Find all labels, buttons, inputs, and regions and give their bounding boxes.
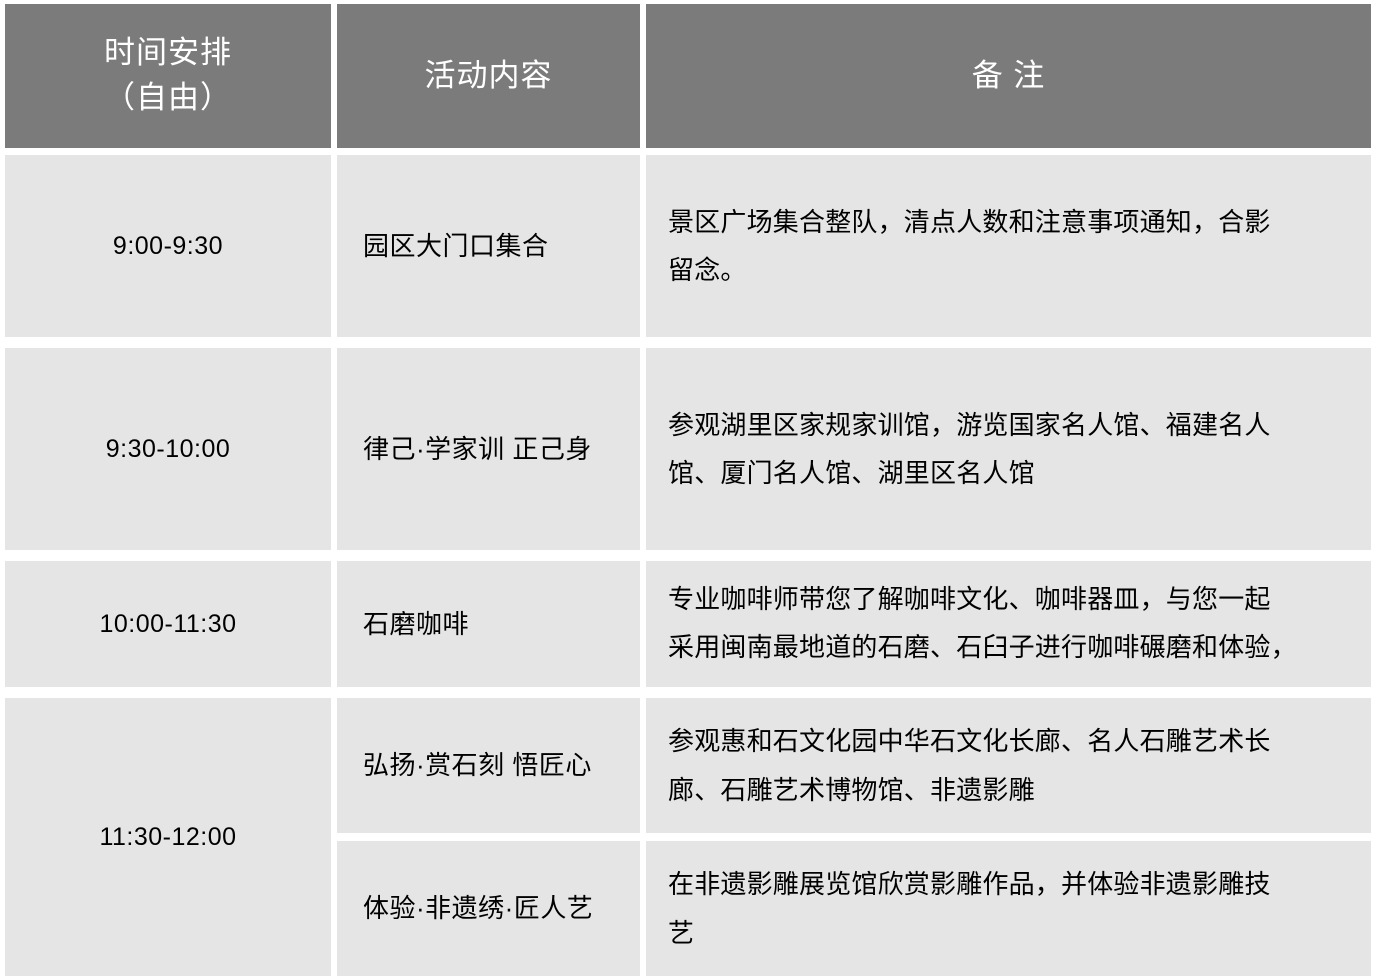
cell-time: 9:30-10:00 bbox=[5, 348, 331, 550]
table-row-merged: 11:30-12:00 弘扬·赏石刻 悟匠心 参观惠和石文化园中华石文化长廊、名… bbox=[5, 698, 1371, 976]
remark-line: 参观惠和石文化园中华石文化长廊、名人石雕艺术长 bbox=[668, 717, 1271, 765]
header-time-line2: （自由） bbox=[104, 76, 232, 121]
cell-time-merged: 11:30-12:00 bbox=[5, 698, 331, 976]
table-row: 9:00-9:30 园区大门口集合 景区广场集合整队，清点人数和注意事项通知，合… bbox=[5, 155, 1371, 337]
remark-line: 艺 bbox=[668, 909, 1271, 957]
table-body: 9:00-9:30 园区大门口集合 景区广场集合整队，清点人数和注意事项通知，合… bbox=[5, 155, 1371, 976]
cell-remark: 参观惠和石文化园中华石文化长廊、名人石雕艺术长 廊、石雕艺术博物馆、非遗影雕 bbox=[646, 698, 1371, 833]
cell-activity: 弘扬·赏石刻 悟匠心 bbox=[337, 698, 640, 833]
header-remark-label: 备 注 bbox=[972, 54, 1046, 99]
remark-line: 参观湖里区家规家训馆，游览国家名人馆、福建名人 bbox=[668, 401, 1271, 449]
cell-activity: 石磨咖啡 bbox=[337, 561, 640, 687]
remark-line: 景区广场集合整队，清点人数和注意事项通知，合影 bbox=[668, 198, 1271, 246]
header-activity-label: 活动内容 bbox=[425, 54, 553, 99]
remark-line: 采用闽南最地道的石磨、石臼子进行咖啡碾磨和体验， bbox=[668, 623, 1297, 671]
remark-line: 在非遗影雕展览馆欣赏影雕作品，并体验非遗影雕技 bbox=[668, 860, 1271, 908]
table-subrow: 弘扬·赏石刻 悟匠心 参观惠和石文化园中华石文化长廊、名人石雕艺术长 廊、石雕艺… bbox=[337, 698, 1371, 833]
header-time-line1: 时间安排 bbox=[104, 31, 232, 76]
remark-line: 馆、厦门名人馆、湖里区名人馆 bbox=[668, 449, 1271, 497]
header-cell-activity: 活动内容 bbox=[337, 4, 640, 148]
table-header-row: 时间安排 （自由） 活动内容 备 注 bbox=[5, 4, 1371, 148]
cell-activity: 律己·学家训 正己身 bbox=[337, 348, 640, 550]
cell-activity: 园区大门口集合 bbox=[337, 155, 640, 337]
remark-line: 廊、石雕艺术博物馆、非遗影雕 bbox=[668, 766, 1271, 814]
table-subrow: 体验·非遗绣·匠人艺 在非遗影雕展览馆欣赏影雕作品，并体验非遗影雕技 艺 bbox=[337, 841, 1371, 976]
schedule-table: 时间安排 （自由） 活动内容 备 注 9:00-9:30 园区大门口集合 景区广… bbox=[0, 0, 1375, 976]
merged-subrows: 弘扬·赏石刻 悟匠心 参观惠和石文化园中华石文化长廊、名人石雕艺术长 廊、石雕艺… bbox=[337, 698, 1371, 976]
cell-remark: 专业咖啡师带您了解咖啡文化、咖啡器皿，与您一起 采用闽南最地道的石磨、石臼子进行… bbox=[646, 561, 1371, 687]
remark-line: 留念。 bbox=[668, 246, 1271, 294]
cell-remark: 参观湖里区家规家训馆，游览国家名人馆、福建名人 馆、厦门名人馆、湖里区名人馆 bbox=[646, 348, 1371, 550]
cell-activity: 体验·非遗绣·匠人艺 bbox=[337, 841, 640, 976]
cell-remark: 景区广场集合整队，清点人数和注意事项通知，合影 留念。 bbox=[646, 155, 1371, 337]
header-cell-time: 时间安排 （自由） bbox=[5, 4, 331, 148]
cell-remark: 在非遗影雕展览馆欣赏影雕作品，并体验非遗影雕技 艺 bbox=[646, 841, 1371, 976]
table-row: 10:00-11:30 石磨咖啡 专业咖啡师带您了解咖啡文化、咖啡器皿，与您一起… bbox=[5, 561, 1371, 687]
header-cell-remark: 备 注 bbox=[646, 4, 1371, 148]
remark-line: 专业咖啡师带您了解咖啡文化、咖啡器皿，与您一起 bbox=[668, 575, 1297, 623]
cell-time: 10:00-11:30 bbox=[5, 561, 331, 687]
cell-time: 9:00-9:30 bbox=[5, 155, 331, 337]
table-row: 9:30-10:00 律己·学家训 正己身 参观湖里区家规家训馆，游览国家名人馆… bbox=[5, 348, 1371, 550]
